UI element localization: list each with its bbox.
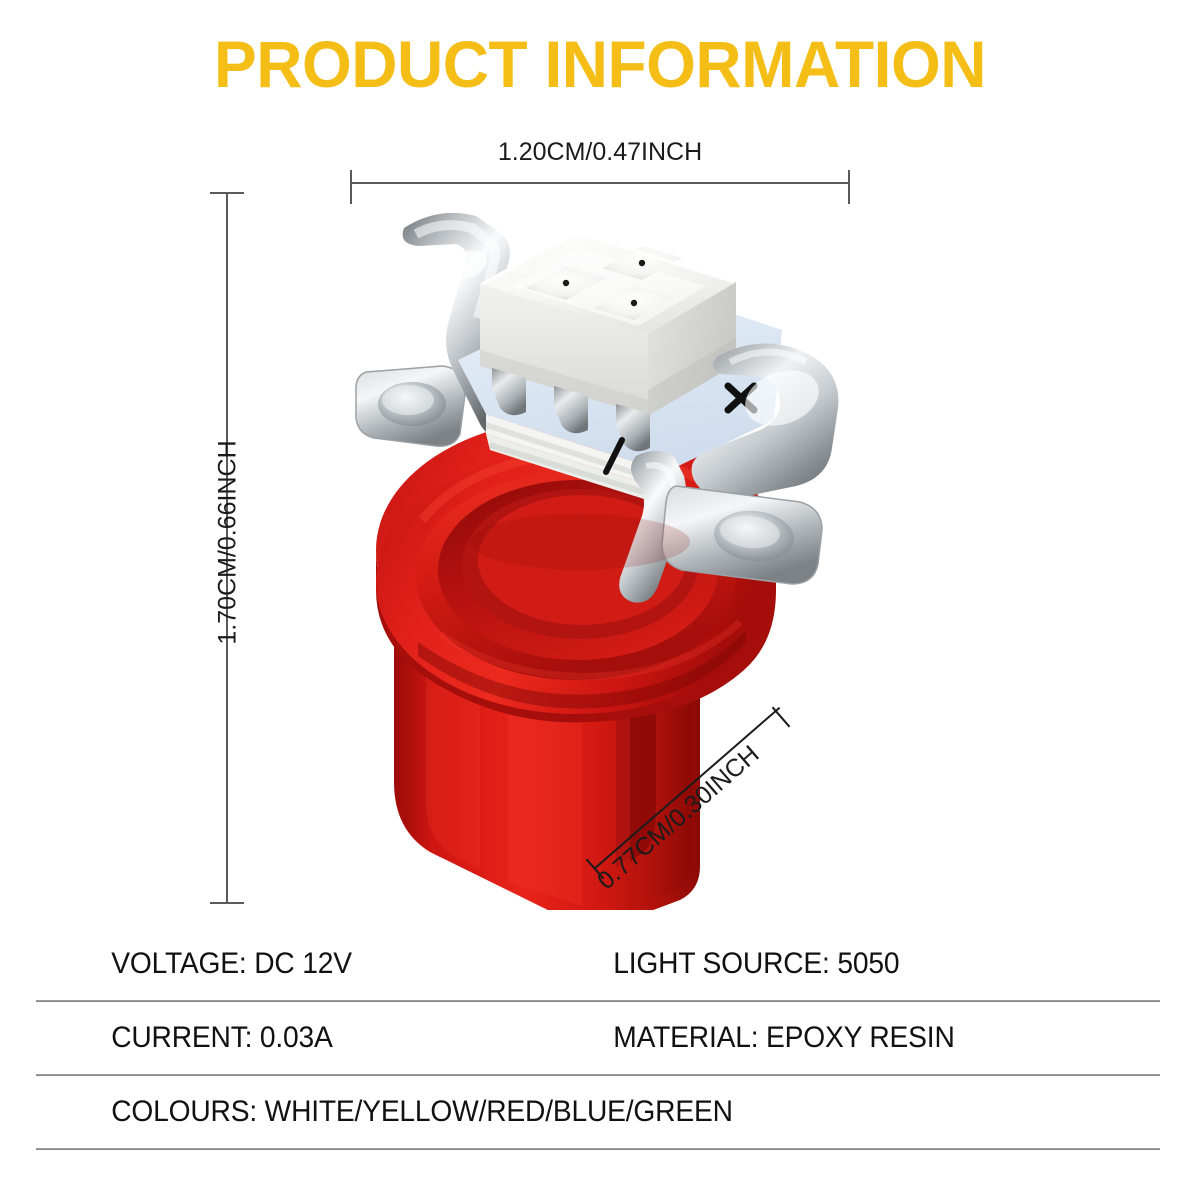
dimension-height-label: 1.70CM/0.66INCH: [214, 193, 243, 893]
spec-divider-3: [36, 1148, 1160, 1150]
dimension-depth: 0.77CM/0.30INCH: [586, 800, 836, 940]
product-information-page: PRODUCT INFORMATION 1.20CM/0.47INCH 1.70…: [0, 0, 1200, 1200]
dimension-height-tick-bottom: [210, 902, 244, 904]
spec-row-current: CURRENT: 0.03A MATERIAL: EPOXY RESIN: [36, 1002, 1160, 1074]
spec-voltage: VOLTAGE: DC 12V: [36, 947, 568, 981]
spec-row-colours: COLOURS: WHITE/YELLOW/RED/BLUE/GREEN: [36, 1076, 1160, 1148]
page-title: PRODUCT INFORMATION: [18, 26, 1182, 102]
dimension-height: 1.70CM/0.66INCH: [178, 192, 238, 904]
spec-current: CURRENT: 0.03A: [36, 1021, 568, 1055]
spec-material: MATERIAL: EPOXY RESIN: [602, 1021, 1127, 1055]
dimension-width: 1.20CM/0.47INCH: [350, 138, 850, 198]
spec-colours: COLOURS: WHITE/YELLOW/RED/BLUE/GREEN: [36, 1095, 1093, 1129]
dimension-width-label: 1.20CM/0.47INCH: [350, 138, 850, 167]
spec-table: VOLTAGE: DC 12V LIGHT SOURCE: 5050 CURRE…: [36, 928, 1160, 1150]
spec-light-source: LIGHT SOURCE: 5050: [602, 947, 1127, 981]
spec-row-voltage: VOLTAGE: DC 12V LIGHT SOURCE: 5050: [36, 928, 1160, 1000]
terminal-tab-left: [356, 366, 466, 446]
dimension-width-line: [350, 182, 850, 184]
